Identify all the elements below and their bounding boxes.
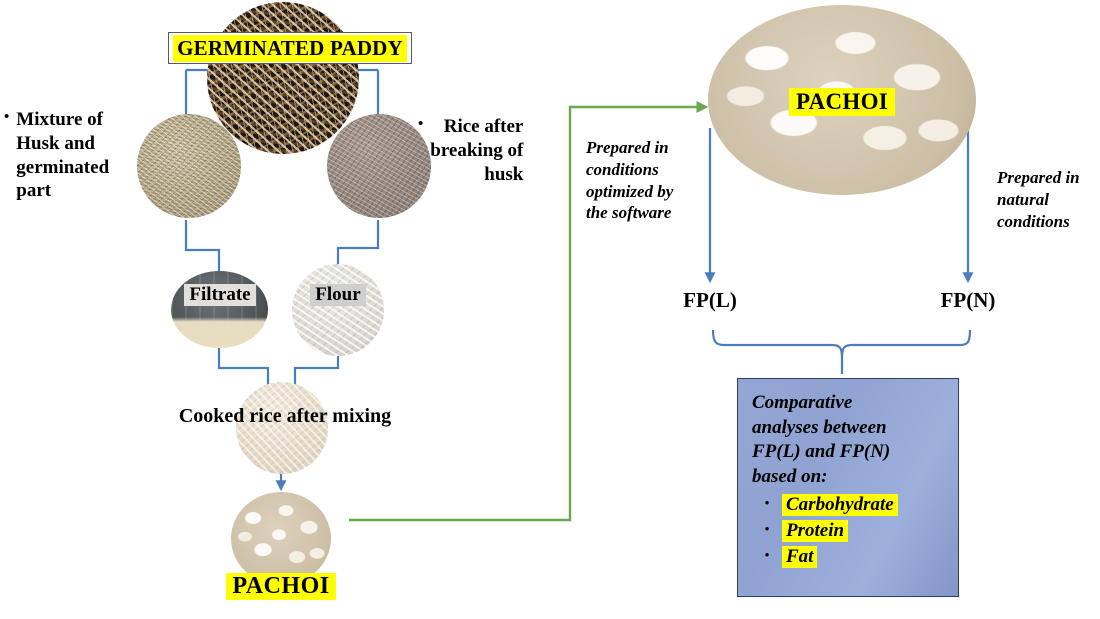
photo-flour [292, 264, 384, 356]
analysis-list-item: • Protein [752, 520, 944, 542]
label-fpl: FP(L) [683, 288, 737, 312]
label-fpn-wrap: FP(N) [918, 288, 1018, 313]
label-husk-line-1: Mixture of [16, 108, 109, 132]
label-rice-line-3: husk [430, 163, 523, 187]
label-cooked-rice: Cooked rice after mixing [179, 405, 391, 427]
photo-cooked-rice [236, 382, 328, 474]
photo-germinated-paddy [207, 2, 359, 154]
note-optimized-line-3: optimized by [586, 181, 704, 203]
caption-pachoi-oval-wrap: PACHOI [708, 88, 976, 116]
bullet-icon: • [418, 115, 423, 134]
label-husk-mixture: • Mixture of Husk and germinated part [4, 108, 144, 203]
photo-filtrate [171, 271, 268, 348]
label-filtrate: Filtrate [184, 284, 255, 306]
germinated-paddy-title: GERMINATED PADDY [173, 35, 407, 62]
label-fpl-wrap: FP(L) [660, 288, 760, 313]
comparative-analysis-box: Comparative analyses between FP(L) and F… [737, 378, 959, 597]
label-flour: Flour [310, 284, 365, 306]
note-natural-line-3: conditions [997, 211, 1100, 233]
analysis-item-carbohydrate: Carbohydrate [782, 494, 898, 516]
bullet-icon: • [752, 548, 782, 565]
analysis-heading-line-3: FP(L) and FP(N) [752, 440, 944, 465]
note-natural-line-2: natural [997, 189, 1100, 211]
analysis-heading: Comparative analyses between FP(L) and F… [752, 391, 944, 490]
connector-husk-to-filtrate [186, 220, 219, 272]
note-optimized-line-2: conditions [586, 159, 704, 181]
diagram-canvas: GERMINATED PADDY • Mixture of Husk and g… [0, 0, 1100, 619]
caption-pachoi-oval: PACHOI [789, 88, 895, 116]
analysis-heading-line-2: analyses between [752, 416, 944, 441]
label-fpn: FP(N) [941, 288, 996, 312]
analysis-heading-line-1: Comparative [752, 391, 944, 416]
analysis-list-item: • Carbohydrate [752, 494, 944, 516]
note-optimized-line-4: the software [586, 202, 704, 224]
label-husk-line-4: part [16, 179, 109, 203]
analysis-item-list: • Carbohydrate • Protein • Fat [752, 494, 944, 568]
caption-pachoi-bottom: PACHOI [226, 573, 335, 600]
label-husk-line-2: Husk and [16, 132, 109, 156]
analysis-heading-line-4: based on: [752, 465, 944, 490]
caption-pachoi-bottom-wrap: PACHOI [196, 573, 366, 600]
label-rice-after-husk: • Rice after breaking of husk [418, 115, 558, 186]
bullet-icon: • [752, 496, 782, 513]
note-optimized-line-1: Prepared in [586, 137, 704, 159]
label-cooked-rice-wrap: Cooked rice after mixing [150, 405, 420, 428]
label-husk-line-3: germinated [16, 156, 109, 180]
label-rice-line-2: breaking of [430, 139, 523, 163]
label-filtrate-wrap: Filtrate [177, 284, 263, 306]
label-rice-line-1: Rice after [430, 115, 523, 139]
analysis-list-item: • Fat [752, 546, 944, 568]
label-flour-wrap: Flour [296, 284, 380, 306]
photo-husk-mixture [137, 114, 241, 218]
photo-pachoi-bottom [231, 492, 331, 585]
note-natural-line-1: Prepared in [997, 167, 1100, 189]
brace-fpl-fpn [713, 330, 970, 358]
note-optimized-conditions: Prepared in conditions optimized by the … [586, 137, 704, 224]
bullet-icon: • [4, 108, 9, 127]
bullet-icon: • [752, 522, 782, 539]
note-natural-conditions: Prepared in natural conditions [997, 167, 1100, 232]
connector-filtrate-to-cooked [219, 348, 268, 385]
analysis-item-protein: Protein [782, 520, 848, 542]
analysis-item-fat: Fat [782, 546, 817, 568]
photo-rice-after-husk [327, 114, 431, 218]
germinated-paddy-title-box: GERMINATED PADDY [168, 32, 412, 64]
